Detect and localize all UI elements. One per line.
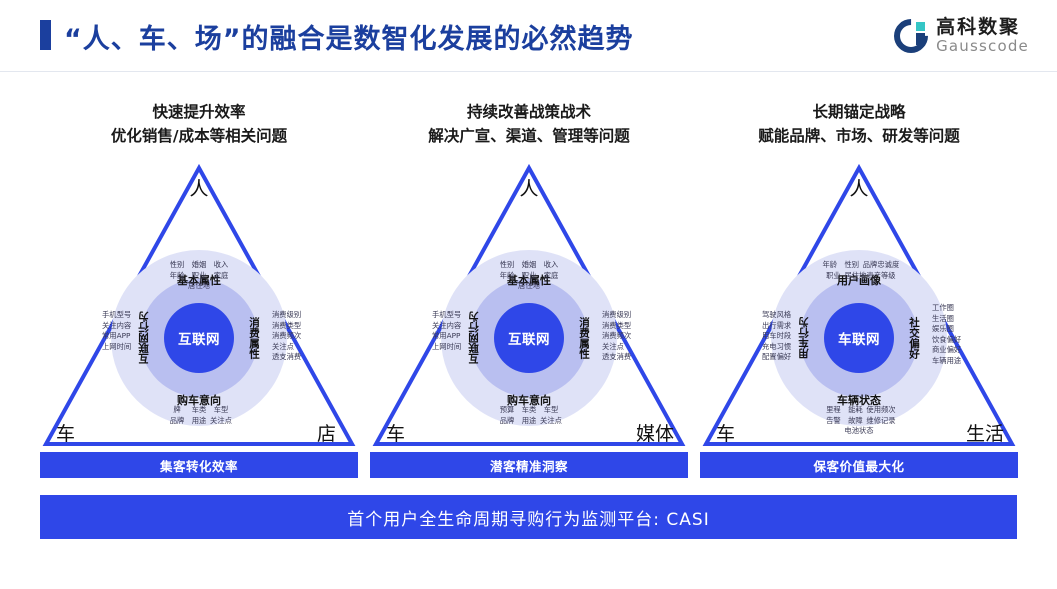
satellite-item: 工作圈 [932,303,954,314]
satellites-top: 性别婚姻收入年龄职业家庭居住地 [496,260,562,292]
header-divider [0,71,1057,72]
satellite-item: 常用APP [432,331,460,342]
ring-label-left: 互联网行为 [466,312,481,365]
column-bar-3: 保客价值最大化 [700,452,1018,478]
triangle-panel-3: 用户画像车辆状态用车行为社交偏好车联网年龄性别品牌忠诚度职业居住地资产等级里程能… [700,160,1018,450]
satellite-item: 配置偏好 [762,352,791,363]
satellites-bottom: 牌车类车型品牌用途关注点 [166,405,232,426]
satellite-row: 牌车类车型 [166,405,232,416]
satellite-item: 消费类型 [602,321,631,332]
column-heading-line2: 赋能品牌、市场、研发等问题 [700,124,1018,148]
satellite-item: 车类 [518,405,540,416]
satellites-top: 年龄性别品牌忠诚度职业居住地资产等级 [819,260,899,281]
satellite-item: 婚姻 [188,260,210,271]
satellite-item: 维修记录 [866,416,895,427]
triangle-bottom-left-label: 车 [56,419,75,446]
satellite-item: 关注点 [540,416,562,427]
ring-label-right: 消费属性 [577,317,592,359]
satellite-item: 电池状态 [844,426,873,437]
satellite-item: 年龄 [496,271,518,282]
satellite-item: 关注点 [602,342,624,353]
satellite-item: 关注点 [272,342,294,353]
satellite-item: 关注内容 [432,321,461,332]
satellite-item: 手机型号 [432,310,461,321]
title-accent-bar [40,20,51,50]
satellites-left: 手机型号关注内容常用APP上网时间 [432,310,461,352]
satellite-item: 年龄 [166,271,188,282]
satellite-row: 关注点 [272,342,301,353]
ring-core: 互联网 [494,303,564,373]
satellite-item: 年龄 [819,260,841,271]
page-title: “人、车、场”的融合是数智化发展的必然趋势 [64,17,634,56]
satellite-row: 居住地 [166,281,232,292]
satellite-row: 工作圈 [932,303,961,314]
ring-core: 车联网 [824,303,894,373]
satellite-item: 家庭 [210,271,232,282]
satellite-item: 使用频次 [866,405,895,416]
satellites-bottom: 预算车类车型品牌用途关注点 [496,405,562,426]
satellite-row: 关注内容 [102,321,131,332]
satellites-bottom: 里程能耗使用频次告警故障维修记录电池状态 [822,405,895,437]
satellites-left: 驾驶风格出行需求用车时段充电习惯配置偏好 [762,310,791,363]
column-heading-2: 持续改善战策战术解决广宣、渠道、管理等问题 [370,100,688,148]
satellite-row: 娱乐圈 [932,324,961,335]
satellite-item: 车型 [210,405,232,416]
satellite-row: 消费频次 [272,331,301,342]
satellites-right: 消费级别消费类型消费频次关注点透支消费 [602,310,631,363]
satellite-item: 居住地 [518,281,540,292]
triangle-apex-label: 人 [189,174,208,201]
satellite-item: 品牌忠诚度 [863,260,899,271]
satellite-item: 性别 [841,260,863,271]
column-bar-1: 集客转化效率 [40,452,358,478]
satellite-item: 用途 [518,416,540,427]
satellite-row: 商业偏好 [932,345,961,356]
satellites-top: 性别婚姻收入年龄职业家庭居住地 [166,260,232,292]
satellite-item: 里程 [822,405,844,416]
satellite-item: 职业 [188,271,210,282]
satellite-item: 收入 [210,260,232,271]
satellite-row: 性别婚姻收入 [496,260,562,271]
satellite-item: 手机型号 [102,310,131,321]
satellite-row: 常用APP [432,331,461,342]
satellite-item: 车辆用途 [932,356,961,367]
satellite-row: 年龄职业家庭 [496,271,562,282]
satellite-item: 性别 [166,260,188,271]
logo-ring-shape [887,12,935,60]
satellite-item: 充电习惯 [762,342,791,353]
satellite-row: 品牌用途关注点 [496,416,562,427]
satellite-row: 消费类型 [602,321,631,332]
satellite-item: 品牌 [496,416,518,427]
satellite-item: 告警 [822,416,844,427]
satellite-item: 驾驶风格 [762,310,791,321]
satellite-item: 用车时段 [762,331,791,342]
satellite-item: 故障 [844,416,866,427]
satellite-row: 手机型号 [432,310,461,321]
satellite-row: 透支消费 [272,352,301,363]
satellite-row: 年龄性别品牌忠诚度 [819,260,899,271]
triangle-bottom-right-label: 店 [317,419,336,446]
satellite-item: 家庭 [540,271,562,282]
gausscode-logo-icon [894,19,928,53]
satellite-item: 婚姻 [518,260,540,271]
satellite-item: 娱乐圈 [932,324,954,335]
satellite-item: 关注点 [210,416,232,427]
satellite-row: 上网时间 [102,342,131,353]
satellite-item: 常用APP [102,331,130,342]
satellite-row: 车辆用途 [932,356,961,367]
satellite-item: 品牌 [166,416,188,427]
satellite-row: 居住地 [496,281,562,292]
logo-dark-square-icon [916,33,925,45]
satellite-item: 性别 [496,260,518,271]
ring-label-left: 互联网行为 [136,312,151,365]
triangle-bottom-right-label: 生活 [966,419,1004,446]
satellite-item: 用途 [188,416,210,427]
column-heading-line1: 持续改善战策战术 [370,100,688,124]
column-bar-2: 潜客精准洞察 [370,452,688,478]
satellite-item: 饮食偏好 [932,335,961,346]
satellite-row: 充电习惯 [762,342,791,353]
satellite-item: 上网时间 [102,342,131,353]
triangle-bottom-left-label: 车 [386,419,405,446]
satellite-item: 预算 [496,405,518,416]
triangle-apex-label: 人 [849,174,868,201]
satellite-row: 饮食偏好 [932,335,961,346]
satellite-row: 告警故障维修记录 [822,416,895,427]
logo-wordmark: 高科数聚 Gausscode [936,18,1029,54]
satellite-row: 品牌用途关注点 [166,416,232,427]
platform-banner: 首个用户全生命周期寻购行为监测平台: CASI [40,495,1017,539]
ring-core: 互联网 [164,303,234,373]
satellite-row: 驾驶风格 [762,310,791,321]
column-heading-line1: 长期锚定战略 [700,100,1018,124]
satellite-item: 上网时间 [432,342,461,353]
triangle-apex-label: 人 [519,174,538,201]
ring-label-right: 社交偏好 [907,317,922,359]
satellite-row: 出行需求 [762,321,791,332]
satellite-item: 透支消费 [272,352,301,363]
satellite-item: 职业 [822,271,844,282]
column-heading-line1: 快速提升效率 [40,100,358,124]
satellite-item: 车类 [188,405,210,416]
ring-core-label: 车联网 [838,328,880,348]
satellite-item: 资产等级 [866,271,895,282]
brand-logo: 高科数聚 Gausscode [894,18,1029,54]
satellites-right: 工作圈生活圈娱乐圈饮食偏好商业偏好车辆用途 [932,303,961,366]
logo-name-en: Gausscode [936,39,1029,54]
satellite-row: 电池状态 [822,426,895,437]
satellite-item: 消费频次 [602,331,631,342]
satellite-row: 透支消费 [602,352,631,363]
triangle-bottom-right-label: 媒体 [636,419,674,446]
satellite-item: 居住地 [844,271,866,282]
satellites-right: 消费级别消费类型消费频次关注点透支消费 [272,310,301,363]
satellite-row: 消费级别 [272,310,301,321]
ring-core-label: 互联网 [178,328,220,348]
satellite-row: 手机型号 [102,310,131,321]
column-heading-line2: 解决广宣、渠道、管理等问题 [370,124,688,148]
satellite-row: 职业居住地资产等级 [819,271,899,282]
satellites-left: 手机型号关注内容常用APP上网时间 [102,310,131,352]
satellite-row: 消费级别 [602,310,631,321]
satellite-item: 收入 [540,260,562,271]
logo-name-cn: 高科数聚 [936,18,1029,37]
satellite-item: 消费级别 [602,310,631,321]
satellite-row: 消费频次 [602,331,631,342]
satellite-row: 常用APP [102,331,131,342]
satellite-item: 牌 [166,405,188,416]
satellite-row: 上网时间 [432,342,461,353]
satellite-row: 里程能耗使用频次 [822,405,895,416]
satellite-row: 预算车类车型 [496,405,562,416]
satellite-item: 消费类型 [272,321,301,332]
satellite-row: 年龄职业家庭 [166,271,232,282]
ring-label-right: 消费属性 [247,317,262,359]
satellite-item: 消费级别 [272,310,301,321]
satellite-row: 关注内容 [432,321,461,332]
satellite-row: 性别婚姻收入 [166,260,232,271]
satellite-item: 商业偏好 [932,345,961,356]
column-heading-3: 长期锚定战略赋能品牌、市场、研发等问题 [700,100,1018,148]
satellite-item: 透支消费 [602,352,631,363]
triangle-panel-1: 基本属性购车意向互联网行为消费属性互联网性别婚姻收入年龄职业家庭居住地牌车类车型… [40,160,358,450]
satellite-row: 关注点 [602,342,631,353]
satellite-item: 能耗 [844,405,866,416]
satellite-row: 消费类型 [272,321,301,332]
satellite-row: 配置偏好 [762,352,791,363]
satellite-item: 出行需求 [762,321,791,332]
triangle-bottom-left-label: 车 [716,419,735,446]
satellite-row: 生活圈 [932,314,961,325]
satellite-item: 关注内容 [102,321,131,332]
column-heading-line2: 优化销售/成本等相关问题 [40,124,358,148]
satellite-item: 消费频次 [272,331,301,342]
logo-teal-square-icon [916,22,925,31]
column-heading-1: 快速提升效率优化销售/成本等相关问题 [40,100,358,148]
triangle-panel-2: 基本属性购车意向互联网行为消费属性互联网性别婚姻收入年龄职业家庭居住地预算车类车… [370,160,688,450]
satellite-item: 职业 [518,271,540,282]
satellite-item: 生活圈 [932,314,954,325]
ring-core-label: 互联网 [508,328,550,348]
satellite-row: 用车时段 [762,331,791,342]
satellite-item: 居住地 [188,281,210,292]
ring-label-left: 用车行为 [796,317,811,359]
page-header: “人、车、场”的融合是数智化发展的必然趋势 高科数聚 Gausscode [0,0,1057,72]
satellite-item: 车型 [540,405,562,416]
